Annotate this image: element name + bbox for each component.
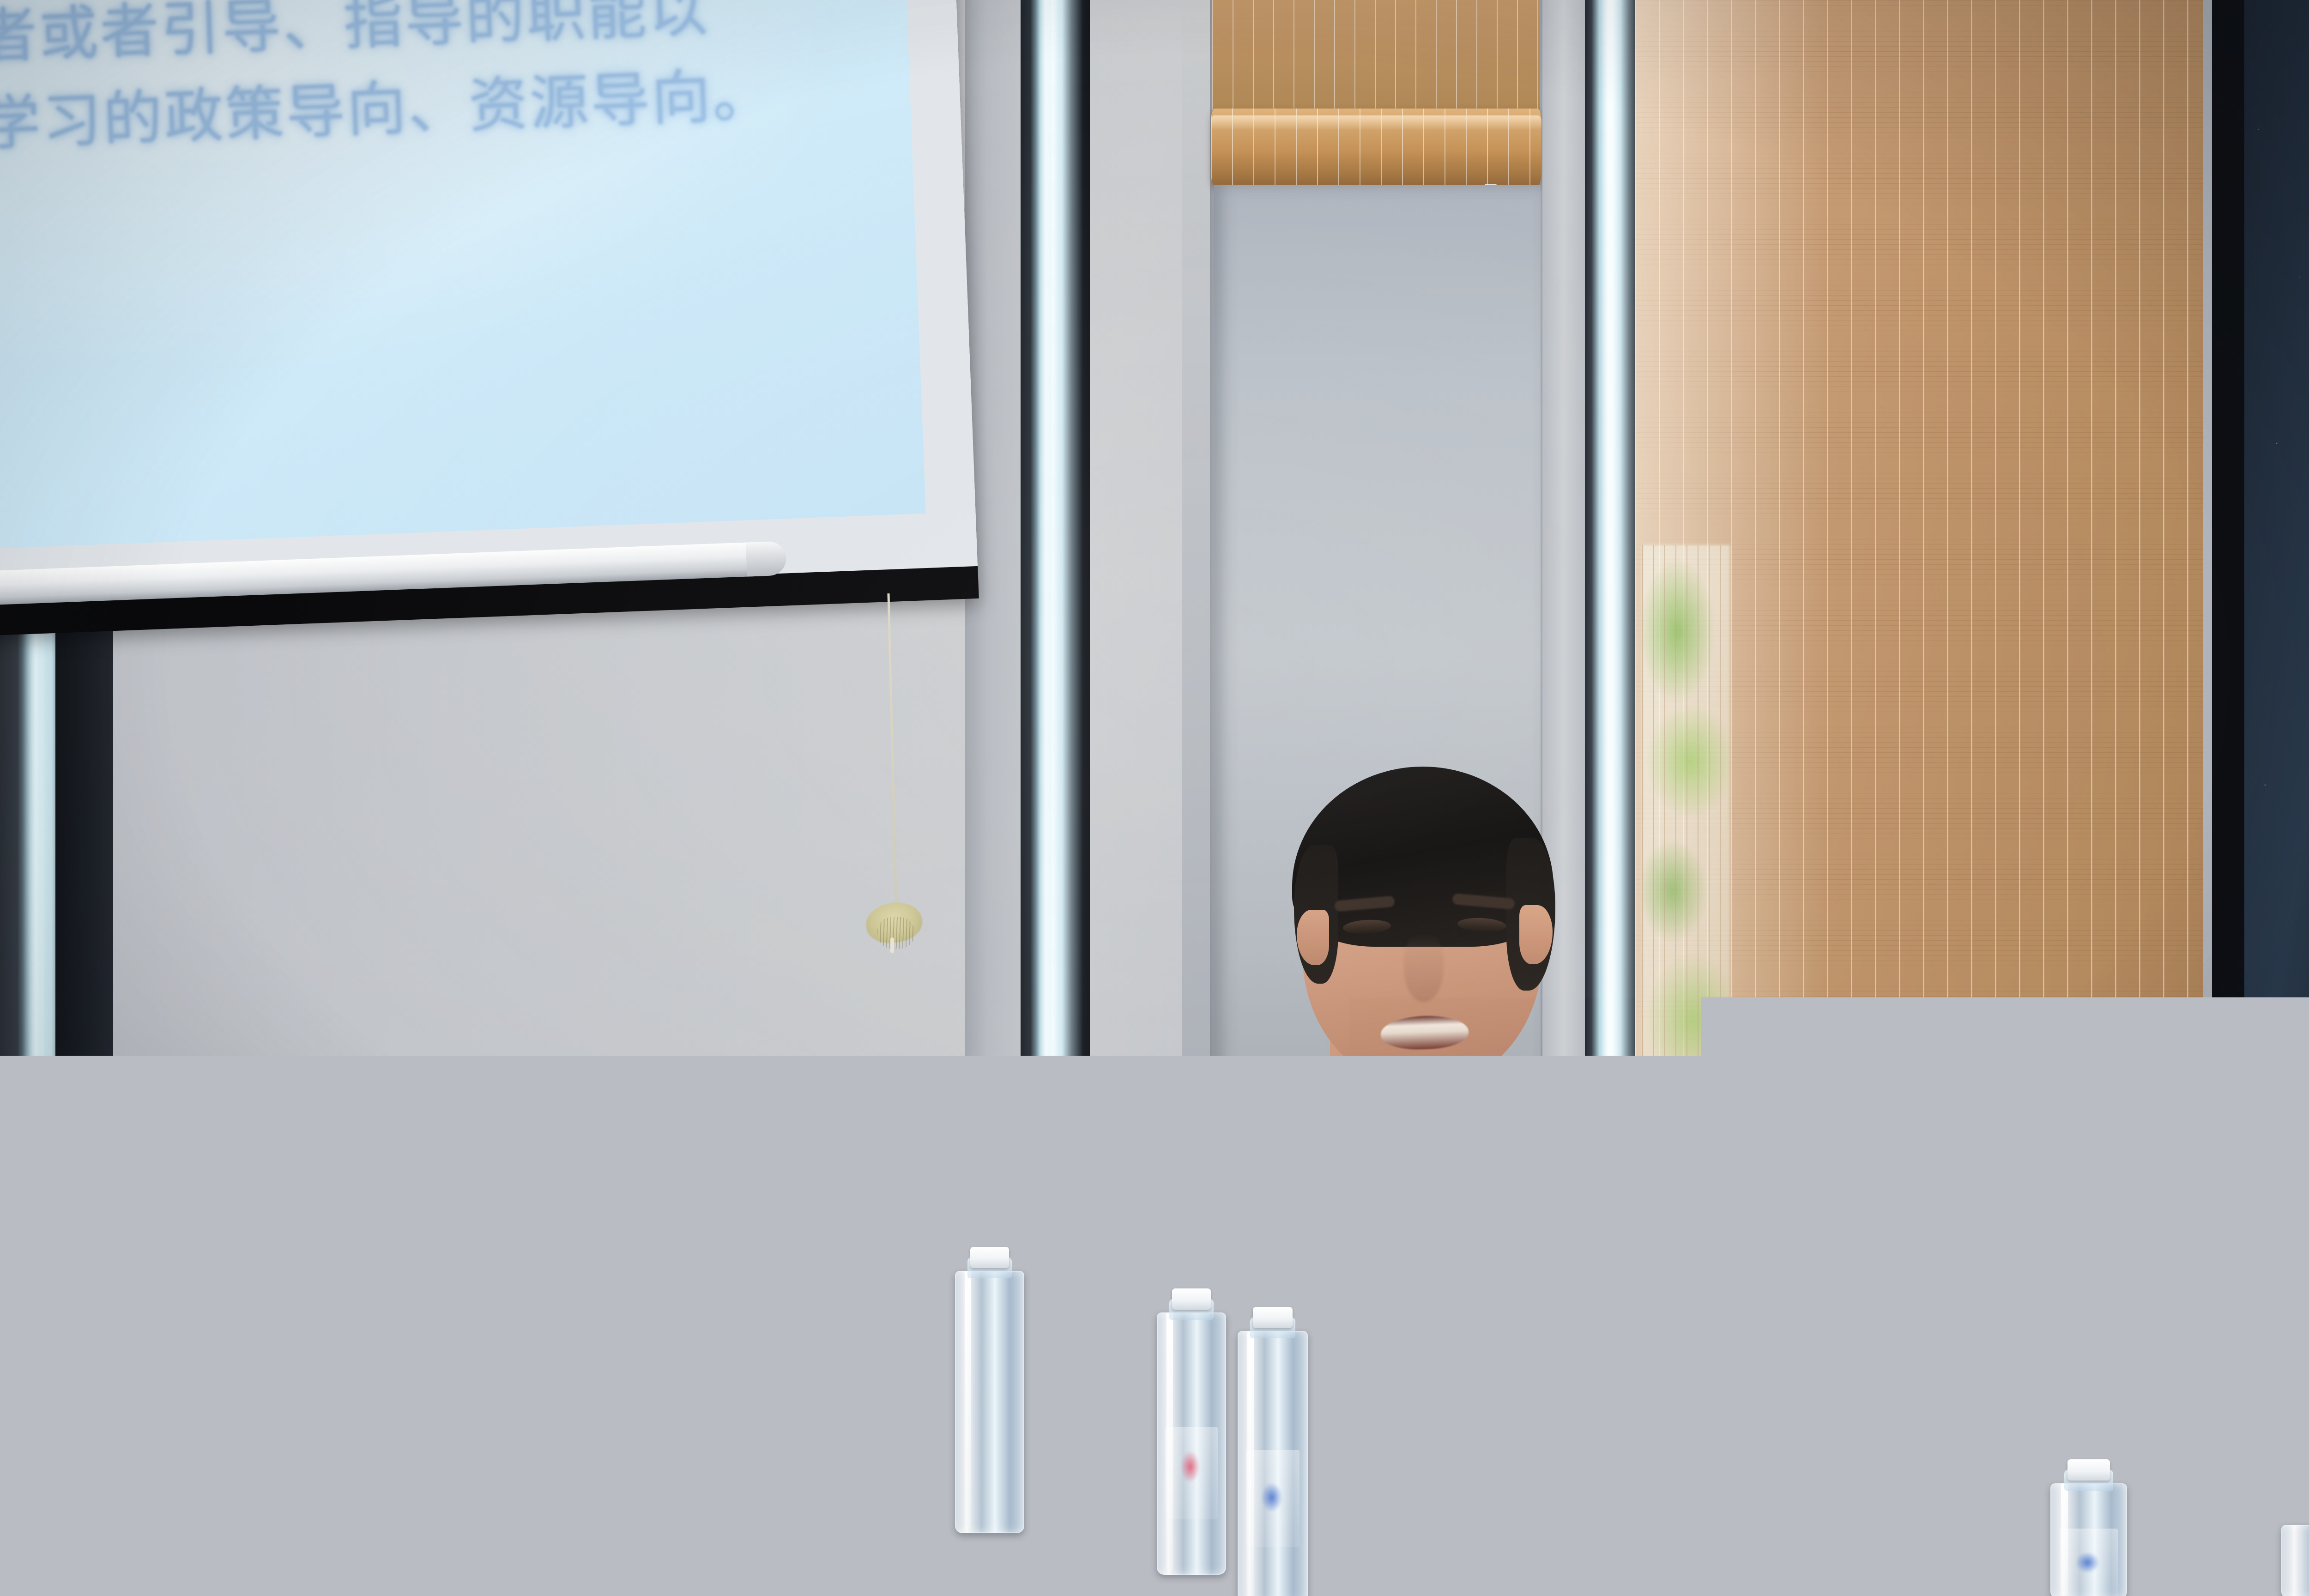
cord-tassel-tail xyxy=(890,937,894,953)
bottle-label xyxy=(1165,1427,1218,1519)
shirt-button-2 xyxy=(1493,1316,1505,1328)
water-bottle-2[interactable] xyxy=(1157,1288,1226,1575)
microphone-button-2[interactable] xyxy=(1363,1200,1371,1207)
screen-weight-bar-cap xyxy=(746,541,787,576)
water-bottle-4[interactable] xyxy=(2050,1459,2127,1596)
bottle-logo xyxy=(1261,1483,1282,1512)
water-bottle-1[interactable] xyxy=(955,1247,1024,1533)
left-window-glow xyxy=(23,628,55,1404)
bottle-cap[interactable] xyxy=(1172,1288,1211,1310)
bottle-cap[interactable] xyxy=(1253,1307,1292,1328)
dark-panel-speckles xyxy=(2244,0,2309,1596)
water-bottle-3[interactable] xyxy=(1238,1307,1308,1596)
bamboo-blind-upper xyxy=(1212,0,1540,110)
water-bottle-5[interactable] xyxy=(2281,1501,2309,1596)
microphone-button-1[interactable] xyxy=(1385,1195,1395,1204)
window-slit-left-glow xyxy=(1037,0,1058,1422)
bottle-highlight xyxy=(965,1271,971,1529)
bottle-cap[interactable] xyxy=(2067,1459,2110,1481)
bottle-logo xyxy=(1181,1451,1200,1482)
laptop-logo xyxy=(850,1265,876,1305)
bottle-label xyxy=(2291,1552,2309,1596)
bottle-label xyxy=(2060,1529,2118,1596)
shirt-button-1 xyxy=(1487,1224,1499,1236)
projection-screen[interactable]: 分演的领导者或者引导、指导的职能以 了区域终身学习的政策导向、资源导向。 xyxy=(0,0,979,641)
projected-slide: 分演的领导者或者引导、指导的职能以 了区域终身学习的政策导向、资源导向。 xyxy=(0,0,926,555)
bottle-logo xyxy=(2076,1552,2099,1573)
bottle-label xyxy=(1246,1450,1300,1547)
bottle-cap[interactable] xyxy=(970,1247,1009,1268)
left-window-dark-frame xyxy=(55,627,113,1408)
bottle-cap[interactable] xyxy=(2298,1501,2309,1522)
rolled-blind-highlight xyxy=(1211,115,1541,130)
tablet-camera-lens xyxy=(1908,1384,1921,1396)
presenter-nose xyxy=(1404,933,1444,1002)
photo-scene: 分演的领导者或者引导、指导的职能以 了区域终身学习的政策导向、资源导向。 xyxy=(0,0,2309,1596)
cord-tassel-strands xyxy=(877,917,914,949)
